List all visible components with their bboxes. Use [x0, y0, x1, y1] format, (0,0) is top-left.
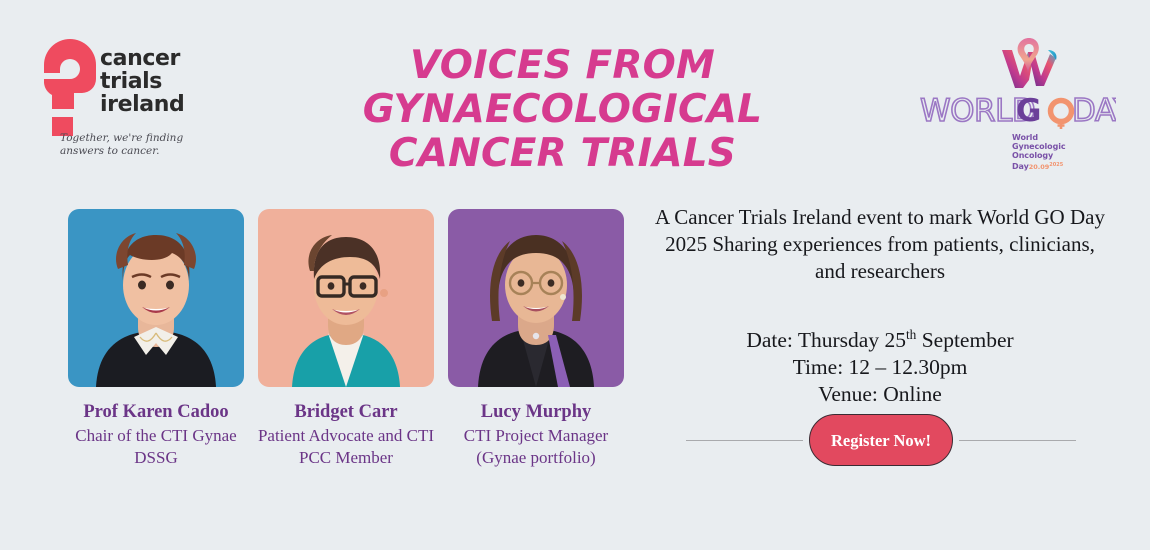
speaker-card-bridget-carr: Bridget Carr Patient Advocate and CTI PC… — [251, 209, 441, 469]
cti-tagline: Together, we're finding answers to cance… — [60, 132, 210, 158]
wgo-sub-line-3: Oncology — [1012, 151, 1066, 160]
speaker-card-lucy-murphy: Lucy Murphy CTI Project Manager (Gynae p… — [441, 209, 631, 469]
svg-text:DAY: DAY — [1072, 94, 1116, 129]
divider-left — [686, 440, 803, 441]
event-blurb: A Cancer Trials Ireland event to mark Wo… — [650, 204, 1110, 285]
event-poster: cancer trials ireland Together, we're fi… — [0, 0, 1150, 550]
poster-headline: VOICES FROM GYNAECOLOGICAL CANCER TRIALS — [205, 44, 920, 176]
headline-line-2: CANCER TRIALS — [205, 132, 920, 176]
register-row: Register Now! — [686, 414, 1076, 466]
event-date-month: September — [916, 328, 1013, 352]
cti-word-cancer: cancer — [100, 47, 210, 70]
event-info: A Cancer Trials Ireland event to mark Wo… — [650, 204, 1110, 408]
avatar — [448, 209, 624, 387]
speaker-role: CTI Project Manager (Gynae portfolio) — [441, 425, 631, 469]
wgo-sub-line-2: Gynecologic — [1012, 142, 1066, 151]
cti-word-trials: trials — [100, 70, 210, 93]
wgo-sub-line-4: Day20.092025 — [1012, 161, 1066, 172]
world-go-day-logo: WORLD G DAY World Gynecologic Oncology D… — [920, 36, 1120, 176]
avatar — [68, 209, 244, 387]
cancer-trials-ireland-logo: cancer trials ireland Together, we're fi… — [38, 33, 208, 168]
cti-wordmark: cancer trials ireland — [100, 47, 210, 116]
svg-text:G: G — [1016, 94, 1041, 129]
speaker-name: Lucy Murphy — [441, 401, 631, 423]
event-venue-line: Venue: Online — [650, 381, 1110, 408]
world-go-day-subtitle: World Gynecologic Oncology Day20.092025 — [1012, 133, 1066, 172]
wgo-sub-date-year: 2025 — [1049, 162, 1063, 168]
speaker-role: Chair of the CTI Gynae DSSG — [61, 425, 251, 469]
speaker-card-karen-cadoo: Prof Karen Cadoo Chair of the CTI Gynae … — [61, 209, 251, 469]
wgo-sub-line-1: World — [1012, 133, 1066, 142]
event-date-line: Date: Thursday 25th September — [650, 321, 1110, 354]
headline-line-1: VOICES FROM GYNAECOLOGICAL — [205, 44, 920, 132]
speaker-name: Bridget Carr — [251, 401, 441, 423]
avatar — [258, 209, 434, 387]
speaker-name: Prof Karen Cadoo — [61, 401, 251, 423]
wgo-sub-date: 20.092025 — [1029, 163, 1063, 171]
cti-word-ireland: ireland — [100, 93, 210, 116]
world-go-day-wordmark: WORLD G DAY — [920, 94, 1116, 130]
event-date-ordinal: th — [906, 327, 916, 342]
world-go-day-ribbon-w-icon — [998, 36, 1060, 92]
speaker-role: Patient Advocate and CTI PCC Member — [251, 425, 441, 469]
wgo-sub-day: Day — [1012, 162, 1029, 171]
divider-right — [959, 440, 1076, 441]
event-details: Date: Thursday 25th September Time: 12 –… — [650, 321, 1110, 408]
event-date-label: Date: Thursday 25 — [746, 328, 906, 352]
cti-ribbon-question-mark-icon — [38, 33, 100, 136]
event-time-line: Time: 12 – 12.30pm — [650, 354, 1110, 381]
register-now-button[interactable]: Register Now! — [809, 414, 953, 466]
